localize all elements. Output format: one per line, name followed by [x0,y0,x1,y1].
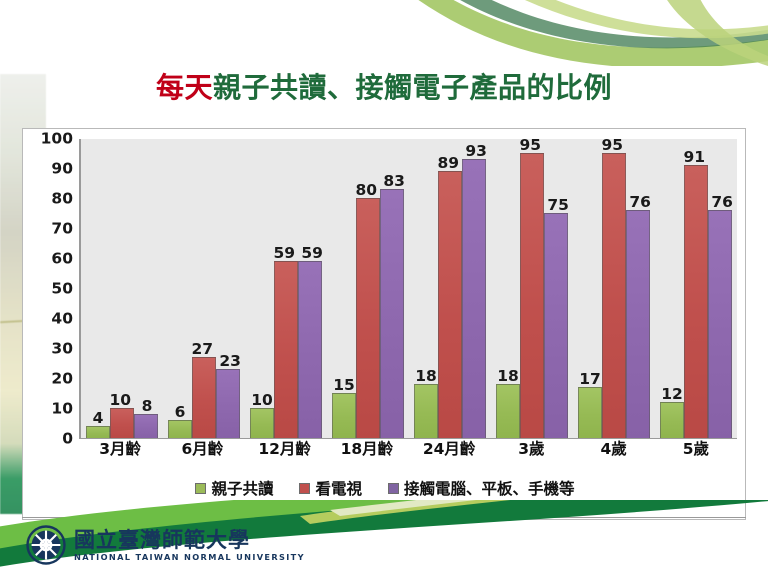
bar-2[interactable]: 93 [462,159,486,438]
bar-groups: 4108627231059591580831889931895751795761… [81,139,737,438]
bar-2[interactable]: 8 [134,414,158,438]
slide-title-main: 親子共讀、接觸電子產品的比例 [213,71,612,104]
bar-value-label: 95 [601,138,623,154]
bar-value-label: 4 [93,411,104,427]
x-axis-tick: 12月齡 [244,441,326,471]
y-axis-tick: 40 [51,311,73,327]
y-axis-tick: 70 [51,221,73,237]
footer-divider [22,517,746,518]
y-axis: 1009080706050403020100 [31,139,73,439]
legend-label: 接觸電腦、平板、手機等 [404,477,575,499]
bar-2[interactable]: 59 [298,261,322,438]
bar-1[interactable]: 27 [192,357,216,438]
bar-value-label: 95 [519,138,541,154]
legend-swatch-icon [299,483,310,494]
y-axis-tick: 100 [41,131,73,147]
bar-group: 105959 [245,139,327,438]
x-axis-tick: 18月齡 [326,441,408,471]
slide-title-accent: 每天 [156,71,213,104]
bar-value-label: 59 [301,246,323,262]
ntnu-logo: 國立臺灣師範大學 NATIONAL TAIWAN NORMAL UNIVERSI… [26,522,305,568]
bar-group: 179576 [573,139,655,438]
x-axis-tick: 3月齡 [79,441,161,471]
slide-canvas: 每天親子共讀、接觸電子產品的比例 1009080706050403020100 … [0,0,768,576]
y-axis-tick: 50 [51,281,73,297]
legend-swatch-icon [195,483,206,494]
bar-value-label: 93 [465,144,487,160]
bar-value-label: 75 [547,198,569,214]
bar-0[interactable]: 10 [250,408,274,438]
x-axis-tick: 5歲 [655,441,737,471]
bar-value-label: 17 [579,372,601,388]
bar-1[interactable]: 89 [438,171,462,438]
y-axis-tick: 20 [51,371,73,387]
ntnu-name-zh: 國立臺灣師範大學 [74,529,305,550]
bar-value-label: 12 [661,387,683,403]
ntnu-name-en: NATIONAL TAIWAN NORMAL UNIVERSITY [74,553,305,561]
bar-value-label: 23 [219,354,241,370]
chart-container: 1009080706050403020100 41086272310595915… [22,128,746,520]
bar-value-label: 91 [683,150,705,166]
bar-value-label: 89 [437,156,459,172]
chart-plot-wrapper: 1009080706050403020100 41086272310595915… [23,129,745,519]
chart-legend: 親子共讀看電視接觸電腦、平板、手機等 [23,477,747,499]
y-axis-tick: 80 [51,191,73,207]
x-axis-tick: 3歲 [490,441,572,471]
bar-2[interactable]: 76 [626,210,650,438]
bar-value-label: 76 [711,195,733,211]
bar-0[interactable]: 17 [578,387,602,438]
bar-group: 188993 [409,139,491,438]
y-axis-tick: 0 [62,431,73,447]
bar-value-label: 59 [273,246,295,262]
legend-item-0[interactable]: 親子共讀 [195,477,273,499]
legend-label: 親子共讀 [211,477,273,499]
bar-2[interactable]: 75 [544,213,568,438]
slide-title: 每天親子共讀、接觸電子產品的比例 [0,66,768,106]
bar-value-label: 10 [251,393,273,409]
ntnu-logo-text: 國立臺灣師範大學 NATIONAL TAIWAN NORMAL UNIVERSI… [74,529,305,561]
bar-0[interactable]: 4 [86,426,110,438]
bar-value-label: 18 [415,369,437,385]
bar-1[interactable]: 91 [684,165,708,438]
x-axis-tick: 4歲 [573,441,655,471]
bar-value-label: 27 [191,342,213,358]
bar-0[interactable]: 15 [332,393,356,438]
bar-value-label: 18 [497,369,519,385]
y-axis-tick: 30 [51,341,73,357]
y-axis-tick: 90 [51,161,73,177]
bar-1[interactable]: 59 [274,261,298,438]
bar-group: 129176 [655,139,737,438]
y-axis-tick: 10 [51,401,73,417]
bar-value-label: 80 [355,183,377,199]
bar-0[interactable]: 12 [660,402,684,438]
x-axis-tick: 24月齡 [408,441,490,471]
bar-value-label: 6 [175,405,186,421]
bar-2[interactable]: 83 [380,189,404,438]
bar-1[interactable]: 95 [602,153,626,438]
bar-group: 62723 [163,139,245,438]
bar-group: 158083 [327,139,409,438]
bar-group: 4108 [81,139,163,438]
x-axis: 3月齡6月齡12月齡18月齡24月齡3歲4歲5歲 [79,441,737,471]
bar-0[interactable]: 18 [414,384,438,438]
bar-value-label: 10 [109,393,131,409]
bar-value-label: 8 [142,399,153,415]
plot-area: 4108627231059591580831889931895751795761… [79,139,737,439]
legend-item-2[interactable]: 接觸電腦、平板、手機等 [388,477,575,499]
bar-group: 189575 [491,139,573,438]
bar-1[interactable]: 80 [356,198,380,438]
x-axis-tick: 6月齡 [161,441,243,471]
legend-item-1[interactable]: 看電視 [299,477,362,499]
top-ribbon-decoration [0,0,768,66]
bar-1[interactable]: 95 [520,153,544,438]
bar-0[interactable]: 18 [496,384,520,438]
legend-label: 看電視 [315,477,362,499]
top-ribbon-svg [0,0,768,66]
y-axis-tick: 60 [51,251,73,267]
bar-1[interactable]: 10 [110,408,134,438]
bar-value-label: 83 [383,174,405,190]
bar-value-label: 76 [629,195,651,211]
ntnu-seal-icon [26,525,66,565]
bar-2[interactable]: 76 [708,210,732,438]
bar-2[interactable]: 23 [216,369,240,438]
bar-0[interactable]: 6 [168,420,192,438]
bar-value-label: 15 [333,378,355,394]
legend-swatch-icon [388,483,399,494]
